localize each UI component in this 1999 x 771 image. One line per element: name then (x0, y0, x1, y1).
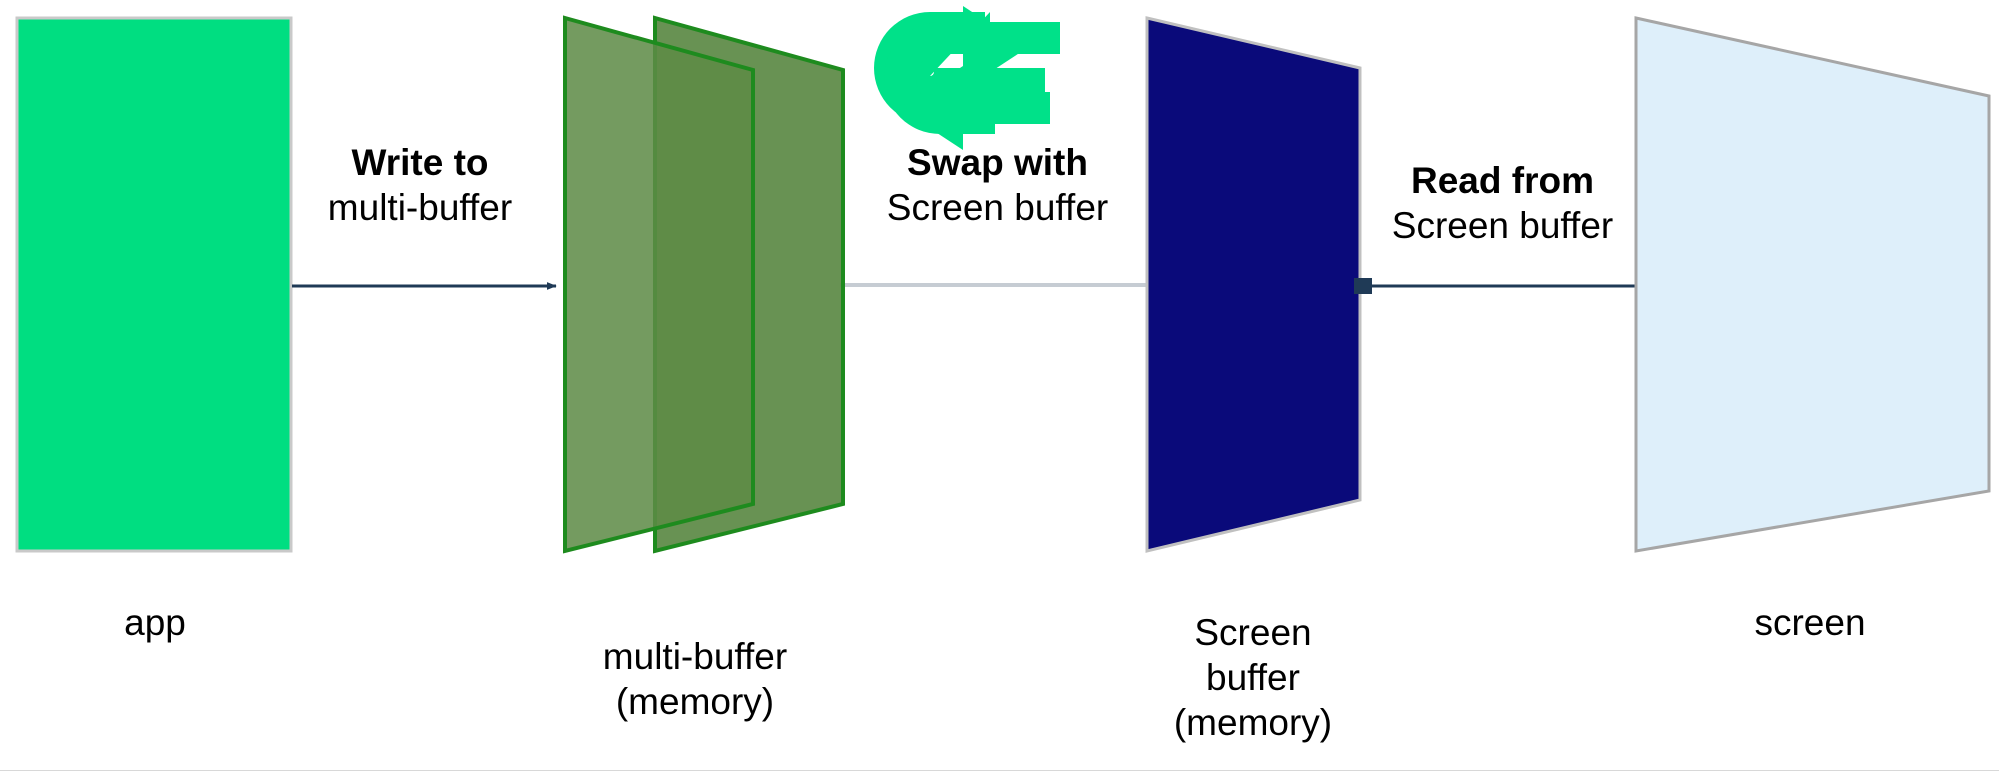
node-label-screenbuffer: Screen buffer (memory) (1103, 610, 1403, 745)
node-label-screenbuffer-line3: (memory) (1103, 700, 1403, 745)
edge-label-read: Read from Screen buffer (1360, 158, 1645, 248)
node-screenbuffer-shape (1147, 18, 1360, 551)
edge-label-read-plain: Screen buffer (1360, 203, 1645, 248)
node-label-multibuffer-line2: (memory) (545, 679, 845, 724)
edge-label-swap: Swap with Screen buffer (855, 140, 1140, 230)
edge-read-endpoint (1354, 278, 1372, 294)
node-label-multibuffer: multi-buffer (memory) (545, 634, 845, 724)
edge-label-swap-bold: Swap with (855, 140, 1140, 185)
diagram-canvas (0, 0, 1999, 771)
edge-label-read-bold: Read from (1360, 158, 1645, 203)
node-label-app-text: app (55, 600, 255, 645)
edge-label-swap-plain: Screen buffer (855, 185, 1140, 230)
edge-label-write: Write to multi-buffer (292, 140, 548, 230)
node-label-screenbuffer-line1: Screen (1103, 610, 1403, 655)
edge-label-write-bold: Write to (292, 140, 548, 185)
node-label-screen: screen (1710, 600, 1910, 645)
buffer-swap-diagram: Write to multi-buffer Swap with Screen b… (0, 0, 1999, 771)
swap-loop-icon (874, 6, 1060, 150)
edge-label-write-plain: multi-buffer (292, 185, 548, 230)
node-label-screen-text: screen (1710, 600, 1910, 645)
node-label-multibuffer-line1: multi-buffer (545, 634, 845, 679)
node-label-app: app (55, 600, 255, 645)
node-app-shape (17, 18, 291, 551)
node-screen-shape (1636, 18, 1989, 551)
node-multibuffer-plane-front (565, 18, 753, 551)
node-label-screenbuffer-line2: buffer (1103, 655, 1403, 700)
